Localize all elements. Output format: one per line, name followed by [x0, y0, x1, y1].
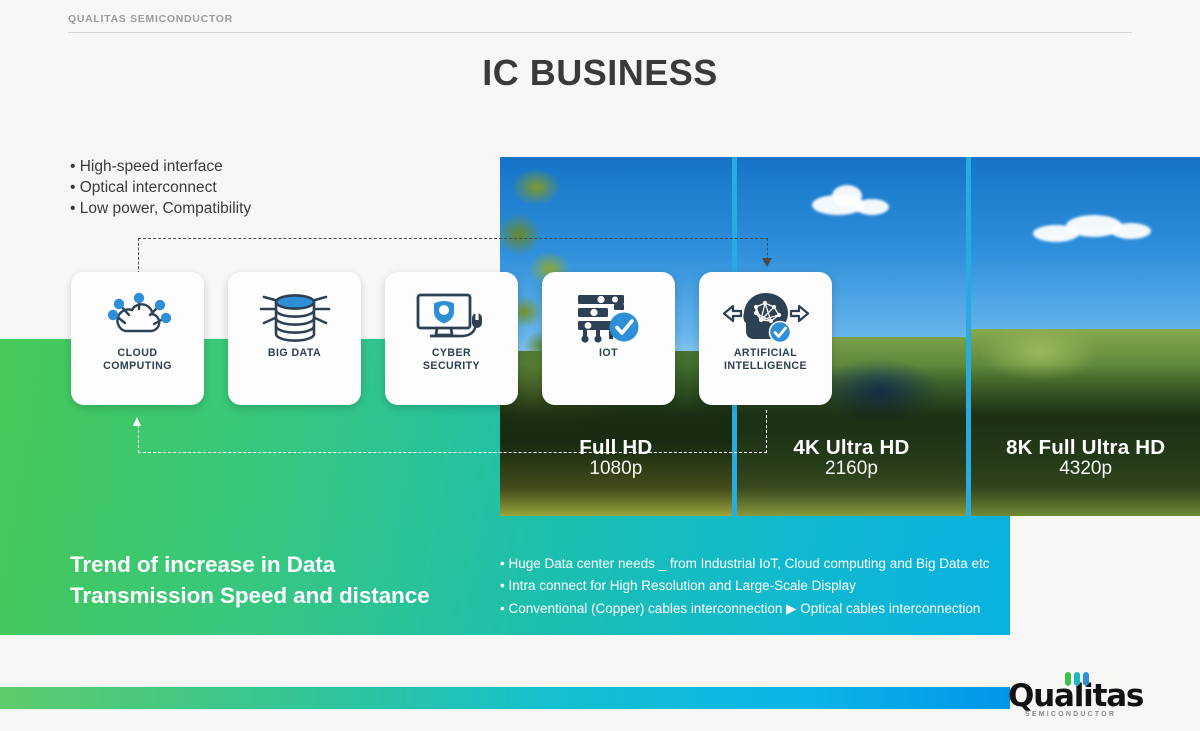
- resolution-pane-8k: 8K Full Ultra HD 4320p: [971, 157, 1200, 516]
- page-title: IC BUSINESS: [0, 52, 1200, 94]
- trend-bullet: Intra connect for High Resolution and La…: [500, 575, 1100, 597]
- header-divider: [68, 32, 1132, 33]
- feature-bullet: Optical interconnect: [70, 177, 400, 198]
- connector-line-top-horizontal: [138, 238, 768, 239]
- trend-bullet: Conventional (Copper) cables interconnec…: [500, 598, 1100, 620]
- trend-headline-line2: Transmission Speed and distance: [70, 583, 430, 608]
- card-label: IOT: [599, 347, 618, 360]
- footer-gradient-bar: [0, 687, 1010, 709]
- connector-line-left-vertical: [138, 238, 139, 274]
- card-label: CYBER SECURITY: [423, 347, 480, 373]
- card-iot[interactable]: IOT: [542, 272, 675, 405]
- resolution-pixels: 4320p: [971, 459, 1200, 480]
- card-label: BIG DATA: [268, 347, 321, 360]
- card-cloud-computing[interactable]: CLOUD COMPUTING: [71, 272, 204, 405]
- connector-line-bottom-horizontal: [138, 452, 767, 453]
- logo-pin-green-icon: [1065, 672, 1071, 685]
- resolution-pixels: 2160p: [737, 459, 967, 480]
- feature-bullet-list: High-speed interface Optical interconnec…: [70, 156, 400, 220]
- card-cyber-security[interactable]: CYBER SECURITY: [385, 272, 518, 405]
- card-label: CLOUD COMPUTING: [103, 347, 172, 373]
- connector-line-bottom-right-vertical: [766, 410, 767, 453]
- resolution-label: 4K Ultra HD 2160p: [737, 437, 967, 480]
- feature-bullet: Low power, Compatibility: [70, 198, 400, 219]
- header-brand: QUALITAS SEMICONDUCTOR: [68, 13, 233, 25]
- logo-pin-blue-icon: [1083, 672, 1089, 685]
- card-artificial-intelligence[interactable]: ARTIFICIAL INTELLIGENCE: [699, 272, 832, 405]
- card-label-line2: COMPUTING: [103, 360, 172, 372]
- database-icon: [258, 289, 332, 345]
- resolution-label: Full HD 1080p: [500, 437, 732, 480]
- company-logo: Qualitas SEMICONDUCTOR: [1008, 678, 1138, 724]
- logo-pin-teal-icon: [1074, 672, 1080, 685]
- card-big-data[interactable]: BIG DATA: [228, 272, 361, 405]
- card-label-line1: CLOUD: [118, 347, 158, 359]
- resolution-name: 8K Full Ultra HD: [971, 437, 1200, 460]
- resolution-pixels: 1080p: [500, 459, 732, 480]
- card-label-line1: CYBER: [432, 347, 471, 359]
- resolution-name: Full HD: [500, 437, 732, 460]
- cloud-network-icon: [103, 289, 173, 345]
- connector-arrow-down-icon: [762, 258, 772, 267]
- circuit-check-icon: [574, 289, 644, 345]
- card-label: ARTIFICIAL INTELLIGENCE: [724, 347, 807, 373]
- card-label-line1: ARTIFICIAL: [734, 347, 797, 359]
- ai-head-icon: [723, 289, 809, 345]
- trend-bullet: Huge Data center needs _ from Industrial…: [500, 553, 1100, 575]
- connector-arrow-up-icon: [133, 417, 141, 426]
- feature-bullet: High-speed interface: [70, 156, 400, 177]
- card-label-line2: INTELLIGENCE: [724, 360, 807, 372]
- trend-headline-line1: Trend of increase in Data: [70, 552, 335, 577]
- monitor-shield-icon: [413, 289, 491, 345]
- logo-subtext: SEMICONDUCTOR: [1025, 711, 1116, 718]
- connector-line-bottom-left-vertical: [138, 425, 139, 453]
- card-label-line2: SECURITY: [423, 360, 480, 372]
- trend-bullet-list: Huge Data center needs _ from Industrial…: [500, 553, 1100, 620]
- resolution-name: 4K Ultra HD: [737, 437, 967, 460]
- connector-line-right-vertical: [767, 238, 768, 260]
- resolution-label: 8K Full Ultra HD 4320p: [971, 437, 1200, 480]
- trend-headline: Trend of increase in Data Transmission S…: [70, 550, 490, 611]
